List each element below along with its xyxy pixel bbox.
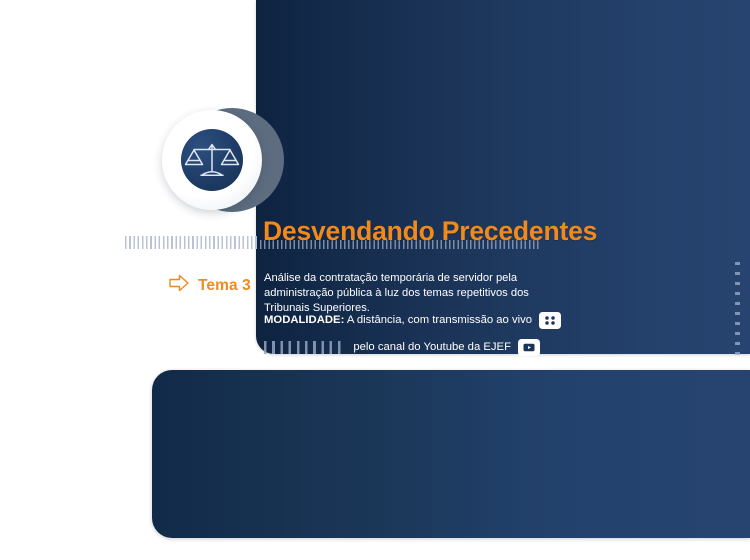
group-people-icon[interactable] bbox=[539, 312, 561, 329]
vertical-dotted-column bbox=[735, 262, 740, 362]
modality-value: A distância, com transmissão ao vivo bbox=[344, 314, 532, 326]
slide-canvas: Tema 3 Desvendando Precedentes Análise d… bbox=[0, 0, 750, 560]
modality-row-live: MODALIDADE: A distância, com transmissão… bbox=[264, 308, 540, 332]
youtube-play-icon[interactable] bbox=[518, 339, 540, 356]
scales-of-justice-icon bbox=[181, 129, 243, 191]
modality-label: MODALIDADE: bbox=[264, 314, 344, 326]
modality-block: MODALIDADE: A distância, com transmissão… bbox=[264, 308, 540, 359]
bottom-navy-panel bbox=[152, 370, 750, 538]
modality-line2: pelo canal do Youtube da EJEF bbox=[353, 341, 511, 353]
theme-number-label: Tema 3 bbox=[198, 277, 251, 295]
arrow-right-outline-icon bbox=[168, 274, 190, 297]
dashed-spacer-rule bbox=[264, 341, 346, 354]
brand-logo bbox=[162, 108, 286, 212]
dashed-tick-rule bbox=[125, 236, 259, 249]
modality-line1: MODALIDADE: A distância, com transmissão… bbox=[264, 314, 532, 326]
event-title: Desvendando Precedentes bbox=[263, 216, 597, 247]
modality-row-channel: pelo canal do Youtube da EJEF bbox=[264, 335, 540, 359]
theme-marker: Tema 3 bbox=[168, 274, 251, 297]
